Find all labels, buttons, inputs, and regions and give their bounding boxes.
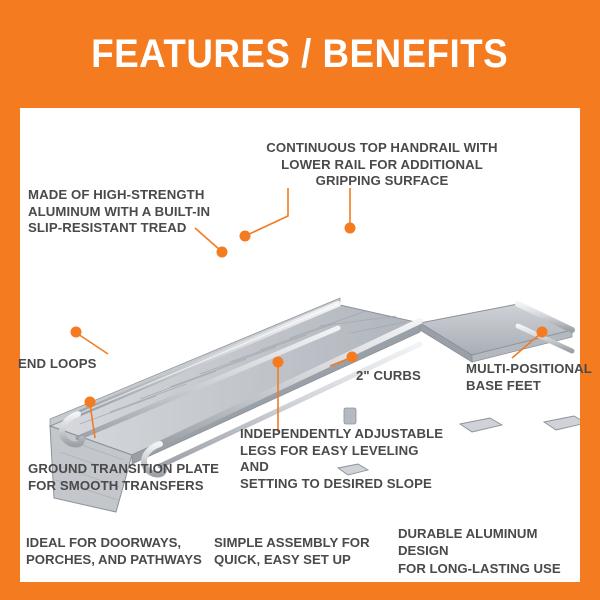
callout-handrail-label: CONTINUOUS TOP HANDRAIL WITH LOWER RAIL … — [258, 140, 506, 190]
dot-ground-plate — [85, 397, 96, 408]
page-title: FEATURES / BENEFITS — [92, 32, 509, 77]
dot-curbs — [347, 352, 358, 363]
header-banner: FEATURES / BENEFITS — [0, 0, 600, 108]
benefit-1: IDEAL FOR DOORWAYS, PORCHES, AND PATHWAY… — [20, 534, 208, 568]
bottom-benefits-row: IDEAL FOR DOORWAYS, PORCHES, AND PATHWAY… — [20, 520, 580, 582]
dot-adjustable-legs — [273, 357, 284, 368]
benefit-3: DURABLE ALUMINUM DESIGN FOR LONG-LASTING… — [396, 525, 580, 576]
callout-tread-label: MADE OF HIGH-STRENGTH ALUMINUM WITH A BU… — [28, 187, 234, 237]
benefit-2: SIMPLE ASSEMBLY FOR QUICK, EASY SET UP — [208, 534, 396, 568]
dot-base-feet — [537, 327, 548, 338]
dot-handrail-a — [240, 231, 251, 242]
frame-bottom-bar — [0, 582, 600, 600]
leader-end-loops — [78, 334, 108, 354]
platform-deck — [420, 304, 572, 362]
dot-end-loops — [71, 327, 82, 338]
callout-base-feet-label: MULTI-POSITIONAL BASE FEET — [466, 361, 592, 394]
infographic-page: FEATURES / BENEFITS — [0, 0, 600, 600]
dot-handrail-b — [345, 223, 356, 234]
leader-handrail-a — [245, 188, 288, 236]
callout-curbs-label: 2" CURBS — [356, 368, 446, 385]
dot-tread — [217, 247, 228, 258]
callout-adjustable-legs-label: INDEPENDENTLY ADJUSTABLE LEGS FOR EASY L… — [240, 426, 450, 493]
callout-end-loops-label: END LOOPS — [18, 356, 138, 373]
callout-ground-plate-label: GROUND TRANSITION PLATE FOR SMOOTH TRANS… — [28, 461, 232, 494]
